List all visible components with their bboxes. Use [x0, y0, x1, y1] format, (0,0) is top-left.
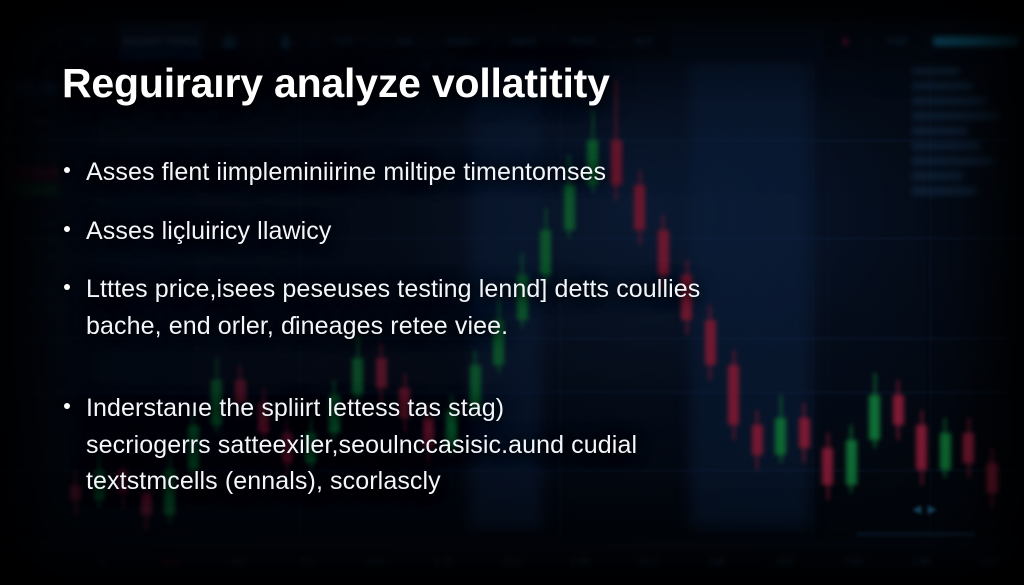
list-item-line: bache, end orler, ɗineages retee viee. — [62, 308, 970, 345]
list-item-line: secriogerrs satteexiler,seoulnccasisic.a… — [62, 427, 970, 464]
slide-overlay: Reguiraıry analyze vollatitity Asses fle… — [0, 0, 1024, 585]
list-item-line: Inderstanıe the spliirt lettess tas stag… — [62, 390, 970, 427]
list-item: Asses flent iimpleminiirine miltipe time… — [62, 154, 970, 191]
list-item-line: Asses liçluiricy llawicy — [62, 213, 970, 250]
page-title: Reguiraıry analyze vollatitity — [62, 62, 970, 105]
list-item-line: Ltttes price,isees peseuses testing lenn… — [62, 271, 970, 308]
screenshot-stage: AF1Recent ToolsTabTabRun++SALEPLOTHLP5.5… — [0, 0, 1024, 585]
bullet-list: Asses flent iimpleminiirine miltipe time… — [62, 154, 970, 500]
list-item-line: textstmcells (ennals), scorlascly — [62, 463, 970, 500]
list-item: Inderstanıe the spliirt lettess tas stag… — [62, 390, 970, 500]
list-item-line: Asses flent iimpleminiirine miltipe time… — [62, 154, 970, 191]
list-item: Asses liçluiricy llawicy — [62, 213, 970, 250]
list-item: Ltttes price,isees peseuses testing lenn… — [62, 271, 970, 344]
bullet-dot-icon — [64, 226, 70, 232]
